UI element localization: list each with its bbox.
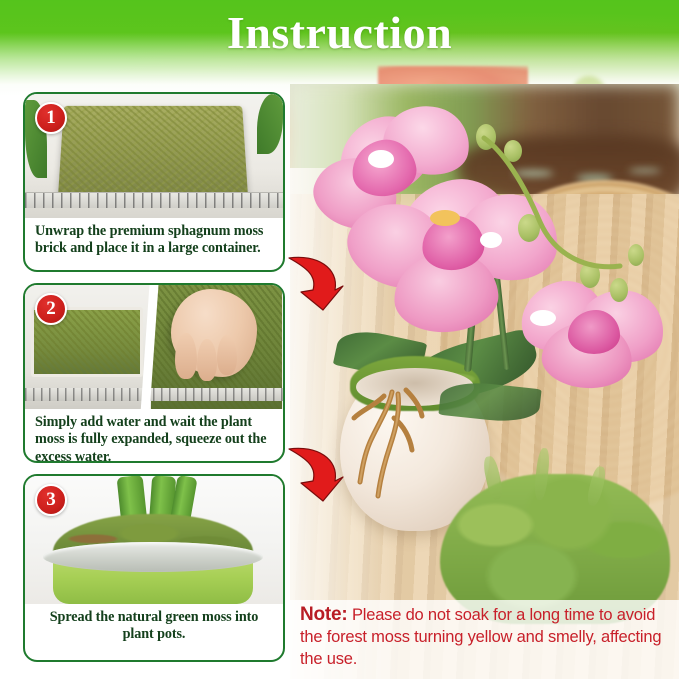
finger (217, 335, 237, 375)
note-block: Note: Please do not soak for a long time… (300, 602, 675, 671)
step-2-photo: 2 (25, 285, 283, 409)
orchid-roots (348, 384, 434, 514)
orchid-column (430, 210, 460, 226)
instruction-infographic: Instruction (0, 0, 679, 679)
pot-rim (43, 542, 263, 572)
finger (175, 333, 197, 379)
step-badge-1: 1 (35, 102, 67, 134)
step-badge-3: 3 (35, 484, 67, 516)
sphagnum-moss-brick (58, 106, 248, 197)
finger (197, 339, 217, 381)
orchid-lip (368, 150, 394, 168)
step-panel-3: 3 Spread the natural green moss into pla… (23, 474, 285, 662)
step-3-photo: 3 (25, 476, 283, 604)
step-1-to-2-arrow (283, 252, 345, 314)
step-badge-2: 2 (35, 293, 67, 325)
step-2-to-3-arrow (283, 443, 345, 505)
ruler (25, 192, 283, 208)
step-3-caption: Spread the natural green moss into plant… (25, 604, 283, 648)
step-1-caption: Unwrap the premium sphagnum moss brick a… (25, 218, 283, 262)
step-1-photo: 1 (25, 94, 283, 218)
ruler (25, 388, 283, 401)
note-body: Please do not soak for a long time to av… (300, 606, 661, 668)
hero-photo (290, 84, 679, 679)
orchid-petal (568, 310, 620, 354)
step-2-caption: Simply add water and wait the plant moss… (25, 409, 283, 463)
step-panel-2: 2 Simply add water and wait the plant mo… (23, 283, 285, 463)
step-panel-1: 1 Unwrap the premium sphagnum moss brick… (23, 92, 285, 272)
page-title: Instruction (0, 6, 679, 59)
orchid-lip (530, 310, 556, 326)
bud-stem (470, 118, 650, 298)
note-label: Note: (300, 604, 348, 625)
